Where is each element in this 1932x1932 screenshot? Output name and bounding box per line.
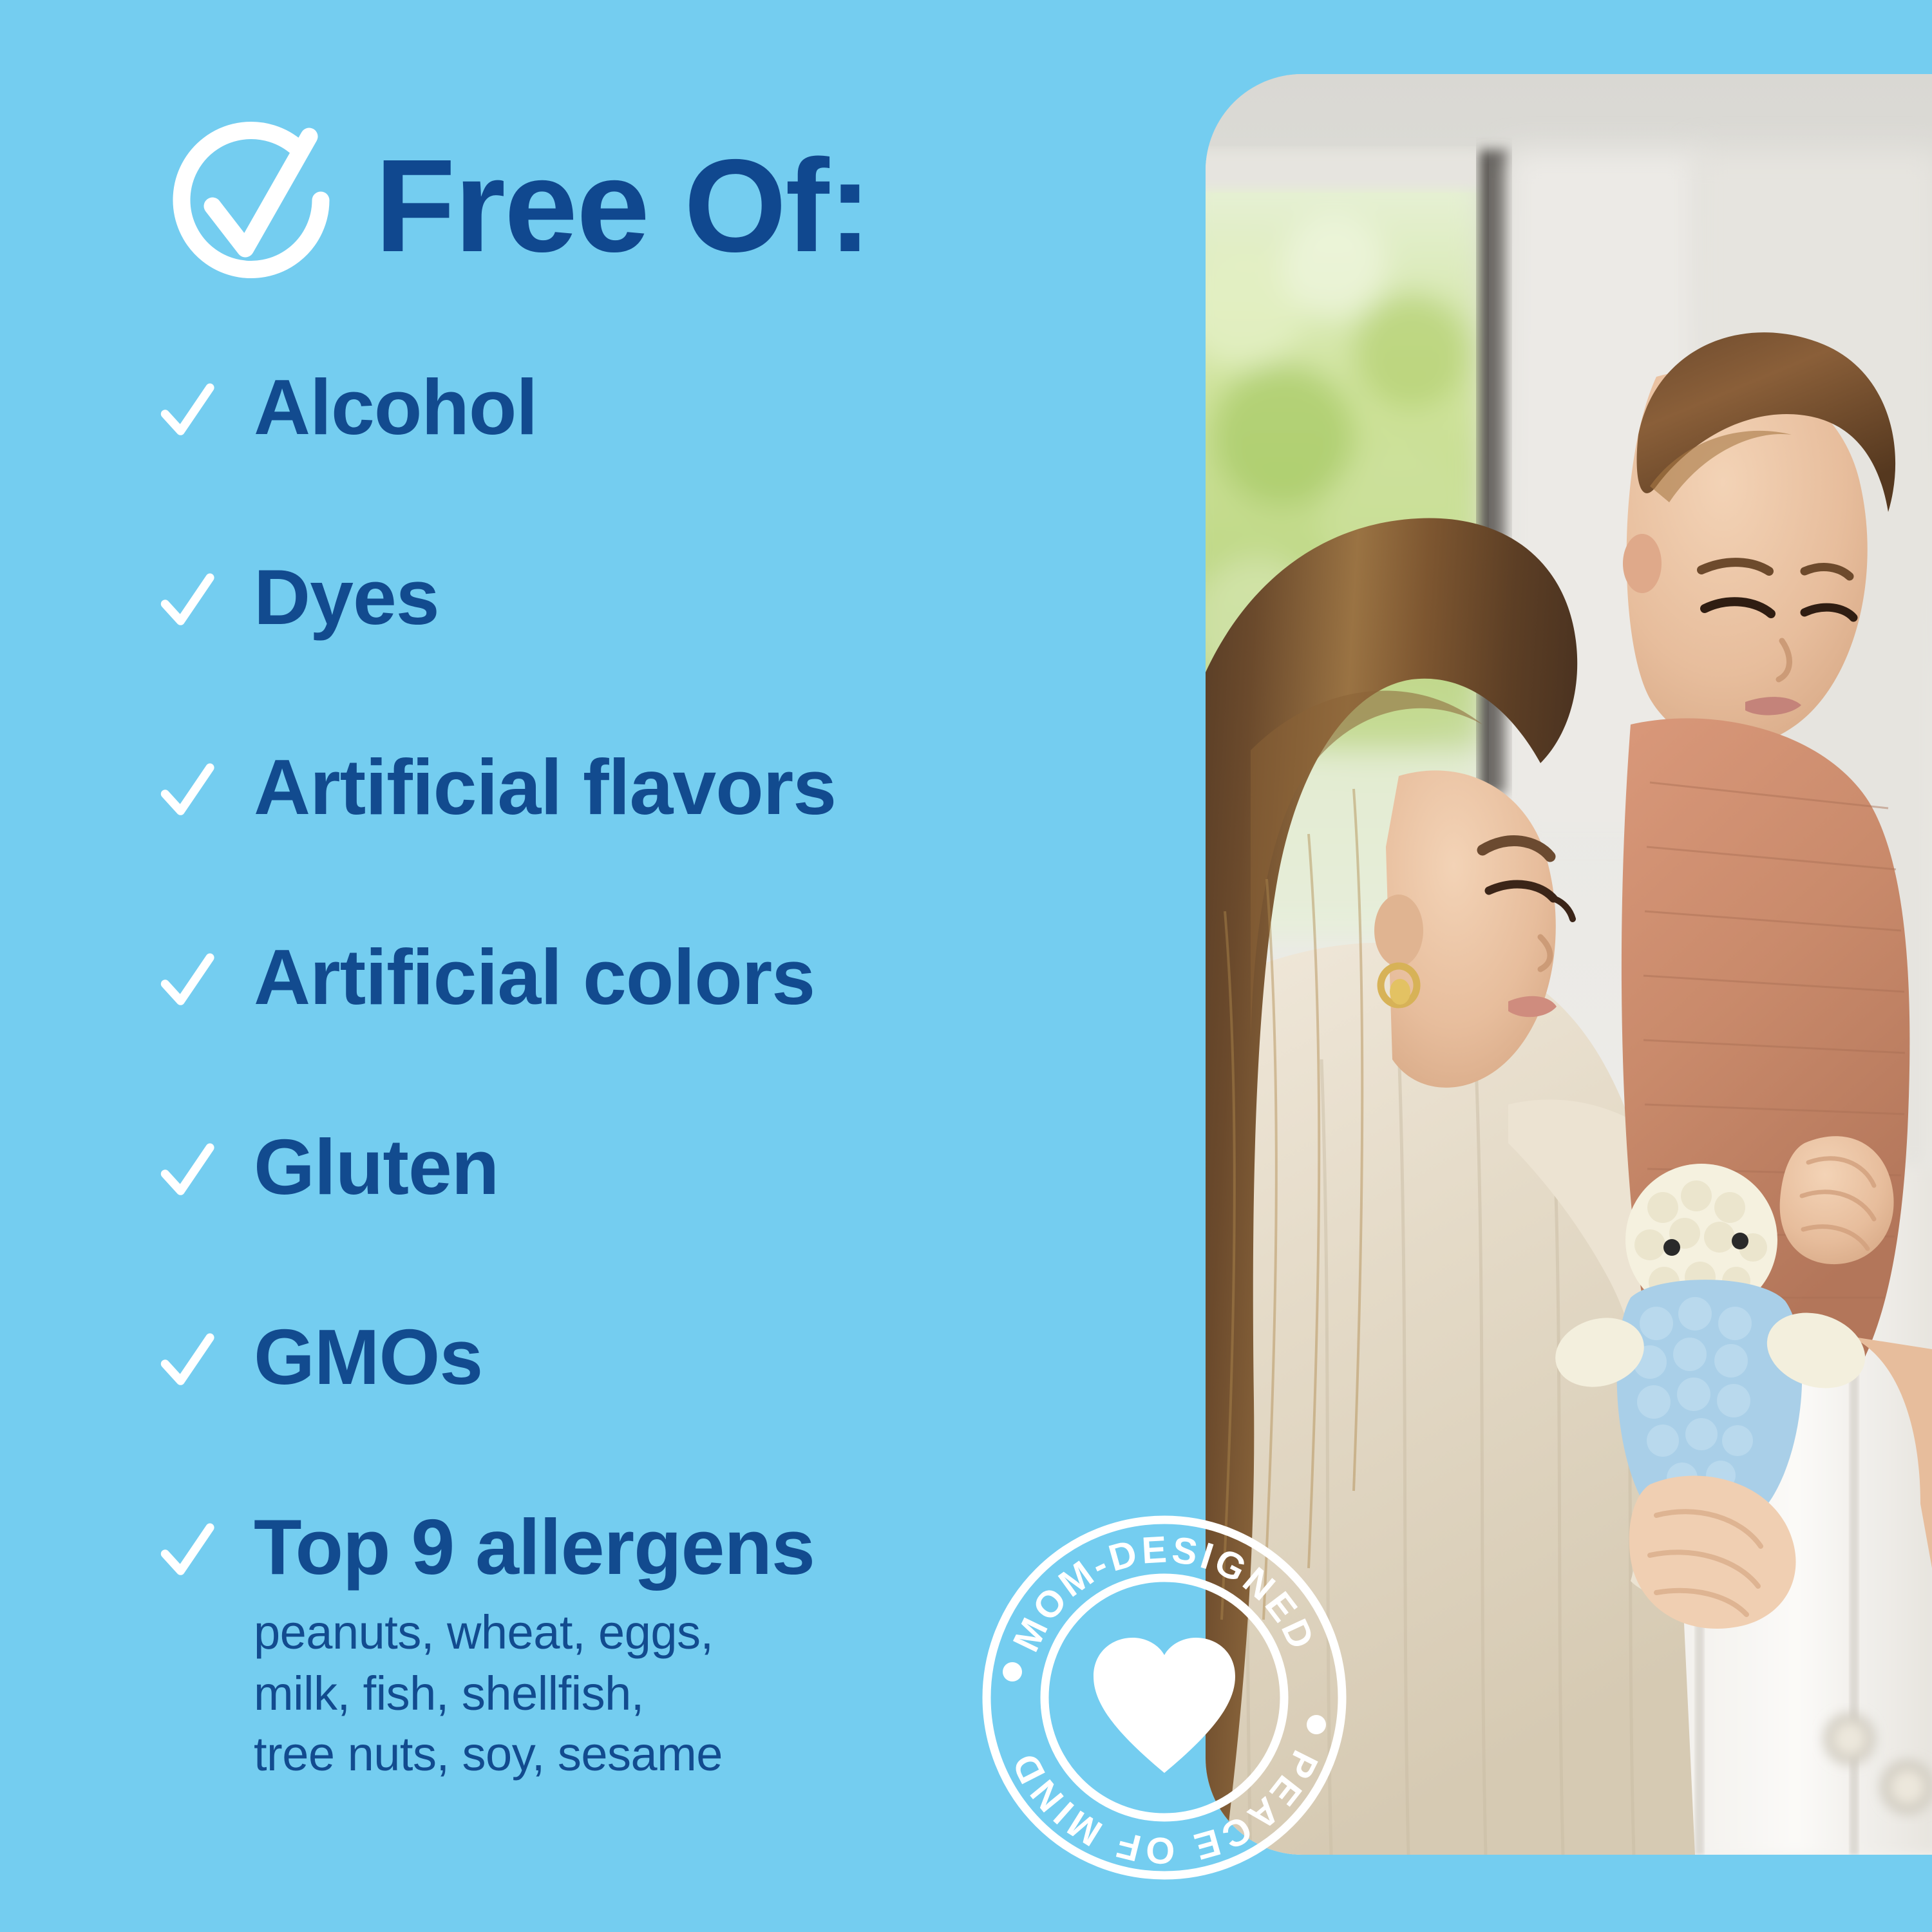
list-item-label: Artificial flavors: [254, 746, 836, 828]
list-item-label: Gluten: [254, 1126, 498, 1208]
lifestyle-photo: [1206, 74, 1932, 1855]
free-of-panel: Free Of: Alcohol Dyes Artificial flavors: [0, 0, 1211, 1932]
checkmark-icon: [156, 760, 218, 822]
checkmark-icon: [156, 1330, 218, 1392]
list-item-label: Dyes: [254, 556, 439, 638]
checkmark-icon: [156, 1520, 218, 1582]
lifestyle-photo-panel: [1206, 74, 1932, 1855]
list-item-label: Top 9 allergens: [254, 1506, 815, 1588]
list-item-label: Artificial colors: [254, 936, 815, 1018]
list-item: Artificial flavors: [156, 746, 1160, 936]
checkmark-icon: [156, 950, 218, 1012]
allergen-line: peanuts, wheat, eggs,: [254, 1602, 723, 1663]
free-of-list: Alcohol Dyes Artificial flavors Artifici…: [156, 366, 1160, 1506]
checkmark-icon: [156, 570, 218, 632]
allergen-sublist: peanuts, wheat, eggs, milk, fish, shellf…: [254, 1602, 723, 1785]
circle-check-icon: [155, 109, 348, 303]
list-item: Dyes: [156, 556, 1160, 746]
list-item: Gluten: [156, 1126, 1160, 1316]
allergen-line: milk, fish, shellfish,: [254, 1663, 723, 1725]
header: Free Of:: [155, 116, 871, 303]
list-item-label: Alcohol: [254, 366, 537, 448]
list-item: Artificial colors: [156, 936, 1160, 1126]
page-title: Free Of:: [375, 140, 871, 272]
checkmark-icon: [156, 380, 218, 442]
allergen-line: tree nuts, soy, sesame: [254, 1724, 723, 1785]
list-item-label: GMOs: [254, 1316, 482, 1398]
list-item: Alcohol: [156, 366, 1160, 556]
list-item: GMOs: [156, 1316, 1160, 1506]
checkmark-icon: [156, 1140, 218, 1202]
